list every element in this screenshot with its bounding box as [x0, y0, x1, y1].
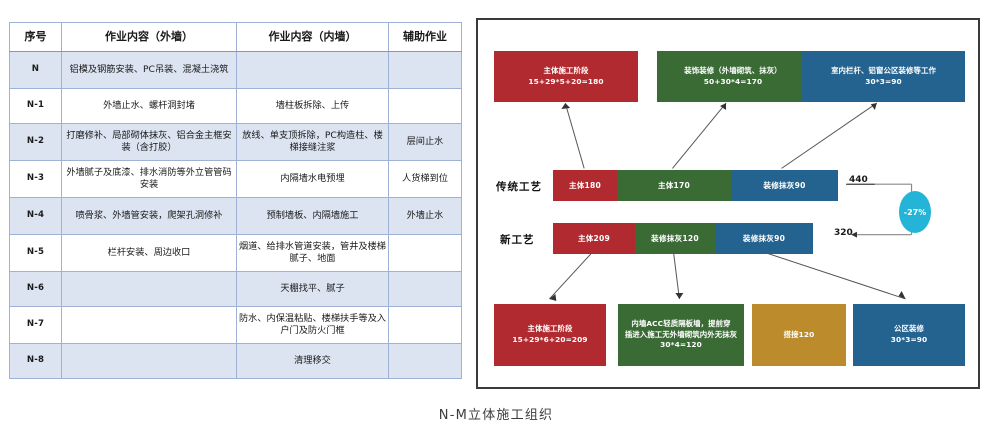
delta-percentage-badge: -27% — [899, 191, 931, 233]
bottom-box-acc-partition-wall-line2: 插进入施工无外墙砌筑内外无抹灰 — [621, 330, 741, 341]
bottom-box-public-area-decoration-line1: 公区装修 — [856, 324, 962, 335]
cell-sequence: N-5 — [10, 235, 62, 272]
cell-inner-wall: 内隔墙水电预埋 — [237, 161, 389, 198]
bar-new-segment-main: 主体209 — [553, 223, 635, 254]
table-row: N-3 外墙腻子及底漆、排水消防等外立管管码安装 内隔墙水电预埋 人货梯到位 — [10, 161, 462, 198]
figure-caption: N-M立体施工组织 — [0, 404, 992, 423]
cell-inner-wall — [237, 52, 389, 89]
cell-outer-wall — [62, 344, 237, 379]
top-box-decoration: 装饰装修（外墙砌筑、抹灰） 50+30*4=170 — [657, 51, 809, 102]
top-box-indoor-works-line2: 30*3=90 — [805, 77, 962, 88]
cell-outer-wall: 打磨修补、局部砌体抹灰、铝合金主框安装（含打胶） — [62, 124, 237, 161]
table-row: N-7 防水、内保温粘贴、楼梯扶手等及入户门及防火门框 — [10, 307, 462, 344]
cell-inner-wall: 防水、内保温粘贴、楼梯扶手等及入户门及防火门框 — [237, 307, 389, 344]
top-box-indoor-works-line1: 室内栏杆、铝窗公区装修等工作 — [805, 66, 962, 77]
top-box-decoration-line2: 50+30*4=170 — [660, 77, 806, 88]
bottom-box-acc-partition-wall: 内墙ACC轻质隔板墙，提前穿 插进入施工无外墙砌筑内外无抹灰 30*4=120 — [618, 304, 744, 366]
construction-schedule-table: 序号 作业内容（外墙） 作业内容（内墙） 辅助作业 N 铝模及钢筋安装、PC吊装… — [9, 22, 462, 379]
header-sequence: 序号 — [10, 23, 62, 52]
cell-auxiliary: 外墙止水 — [389, 198, 462, 235]
cell-sequence: N-6 — [10, 272, 62, 307]
cell-auxiliary — [389, 307, 462, 344]
cell-sequence: N-8 — [10, 344, 62, 379]
bar-traditional-segment-main: 主体180 — [553, 170, 617, 201]
table-row: N-2 打磨修补、局部砌体抹灰、铝合金主框安装（含打胶） 放线、单支顶拆除，PC… — [10, 124, 462, 161]
construction-comparison-diagram: 主体施工阶段 15+29*5+20=180 装饰装修（外墙砌筑、抹灰） 50+3… — [476, 18, 980, 389]
cell-auxiliary — [389, 272, 462, 307]
cell-sequence: N-2 — [10, 124, 62, 161]
bar-traditional-segment-mid: 主体170 — [617, 170, 731, 201]
top-box-main-structure-line2: 15+29*5+20=180 — [497, 77, 635, 88]
bottom-box-acc-partition-wall-line3: 30*4=120 — [621, 340, 741, 351]
cell-auxiliary — [389, 344, 462, 379]
header-auxiliary: 辅助作业 — [389, 23, 462, 52]
cell-inner-wall: 清理移交 — [237, 344, 389, 379]
total-new-process: 320 — [834, 228, 853, 238]
cell-outer-wall: 铝模及钢筋安装、PC吊装、混凝土浇筑 — [62, 52, 237, 89]
cell-inner-wall: 墙柱板拆除、上传 — [237, 89, 389, 124]
cell-inner-wall: 预制墙板、内隔墙施工 — [237, 198, 389, 235]
cell-auxiliary: 人货梯到位 — [389, 161, 462, 198]
cell-outer-wall: 外墙止水、螺杆洞封堵 — [62, 89, 237, 124]
top-box-main-structure-line1: 主体施工阶段 — [497, 66, 635, 77]
top-box-indoor-works: 室内栏杆、铝窗公区装修等工作 30*3=90 — [802, 51, 965, 102]
header-inner-wall: 作业内容（内墙） — [237, 23, 389, 52]
table-row: N 铝模及钢筋安装、PC吊装、混凝土浇筑 — [10, 52, 462, 89]
bottom-box-overlap-line1: 搭接120 — [755, 330, 843, 341]
cell-sequence: N-1 — [10, 89, 62, 124]
bottom-box-acc-partition-wall-line1: 内墙ACC轻质隔板墙，提前穿 — [621, 319, 741, 330]
cell-sequence: N — [10, 52, 62, 89]
bar-new-segment-late: 装修抹灰90 — [715, 223, 813, 254]
bottom-box-public-area-decoration-line2: 30*3=90 — [856, 335, 962, 346]
header-outer-wall: 作业内容（外墙） — [62, 23, 237, 52]
table-row: N-6 天棚找平、腻子 — [10, 272, 462, 307]
cell-auxiliary — [389, 52, 462, 89]
cell-inner-wall: 放线、单支顶拆除，PC构造柱、楼梯接缝注浆 — [237, 124, 389, 161]
cell-auxiliary: 层间止水 — [389, 124, 462, 161]
cell-outer-wall — [62, 272, 237, 307]
top-box-main-structure: 主体施工阶段 15+29*5+20=180 — [494, 51, 638, 102]
cell-inner-wall: 烟道、给排水管道安装，管井及楼梯腻子、地面 — [237, 235, 389, 272]
cell-sequence: N-4 — [10, 198, 62, 235]
cell-auxiliary — [389, 89, 462, 124]
cell-outer-wall: 喷骨浆、外墙管安装，爬架孔洞修补 — [62, 198, 237, 235]
table-row: N-4 喷骨浆、外墙管安装，爬架孔洞修补 预制墙板、内隔墙施工 外墙止水 — [10, 198, 462, 235]
row-label-traditional: 传统工艺 — [496, 179, 542, 194]
bottom-box-main-structure-line2: 15+29*6+20=209 — [497, 335, 603, 346]
table-row: N-8 清理移交 — [10, 344, 462, 379]
cell-auxiliary — [389, 235, 462, 272]
bottom-box-main-structure: 主体施工阶段 15+29*6+20=209 — [494, 304, 606, 366]
row-label-new-process: 新工艺 — [500, 232, 535, 247]
bottom-box-overlap: 搭接120 — [752, 304, 846, 366]
cell-sequence: N-3 — [10, 161, 62, 198]
cell-inner-wall: 天棚找平、腻子 — [237, 272, 389, 307]
bar-traditional-segment-late: 装修抹灰90 — [731, 170, 838, 201]
bar-new-segment-mid: 装修抹灰120 — [635, 223, 715, 254]
table-header-row: 序号 作业内容（外墙） 作业内容（内墙） 辅助作业 — [10, 23, 462, 52]
bottom-box-main-structure-line1: 主体施工阶段 — [497, 324, 603, 335]
cell-sequence: N-7 — [10, 307, 62, 344]
cell-outer-wall: 栏杆安装、周边收口 — [62, 235, 237, 272]
total-traditional: 440 — [849, 175, 868, 185]
cell-outer-wall — [62, 307, 237, 344]
table-row: N-5 栏杆安装、周边收口 烟道、给排水管道安装，管井及楼梯腻子、地面 — [10, 235, 462, 272]
top-box-decoration-line1: 装饰装修（外墙砌筑、抹灰） — [660, 66, 806, 77]
table-row: N-1 外墙止水、螺杆洞封堵 墙柱板拆除、上传 — [10, 89, 462, 124]
bottom-box-public-area-decoration: 公区装修 30*3=90 — [853, 304, 965, 366]
cell-outer-wall: 外墙腻子及底漆、排水消防等外立管管码安装 — [62, 161, 237, 198]
